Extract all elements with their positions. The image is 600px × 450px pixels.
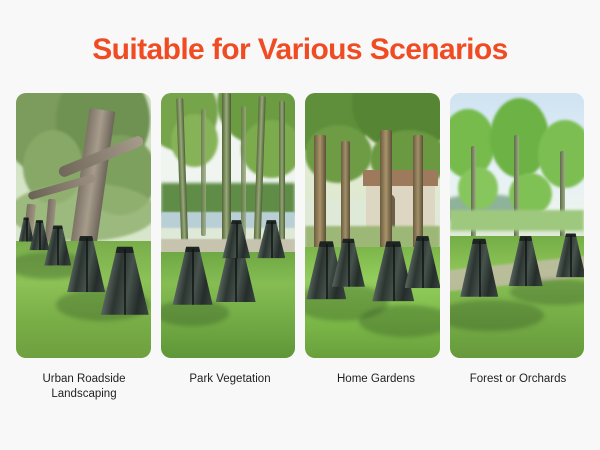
foliage xyxy=(241,120,295,178)
tree-trunk xyxy=(341,141,350,252)
caption-line: Park Vegetation xyxy=(162,372,298,387)
tree-trunk xyxy=(241,106,246,239)
scenario-card-forest-or-orchards[interactable] xyxy=(450,93,585,358)
tree-trunk xyxy=(201,109,206,236)
foliage xyxy=(458,167,498,209)
caption-line: Landscaping xyxy=(16,387,152,402)
scenario-card-gallery xyxy=(16,93,584,358)
page-title: Suitable for Various Scenarios xyxy=(0,33,600,67)
scenario-image-urban-roadside-landscaping xyxy=(16,93,151,358)
caption-forest-or-orchards: Forest or Orchards xyxy=(448,372,588,387)
scenario-image-forest-or-orchards xyxy=(450,93,585,358)
caption-home-gardens: Home Gardens xyxy=(308,372,444,387)
tree-trunk xyxy=(279,101,285,249)
caption-urban-roadside-landscaping: Urban Roadside Landscaping xyxy=(16,372,152,402)
caption-line: Home Gardens xyxy=(308,372,444,387)
scenario-card-urban-roadside-landscaping[interactable] xyxy=(16,93,151,358)
scenario-card-home-gardens[interactable] xyxy=(305,93,440,358)
house-roof xyxy=(363,170,438,186)
shadow xyxy=(359,305,440,337)
scenario-image-park-vegetation xyxy=(161,93,296,358)
caption-park-vegetation: Park Vegetation xyxy=(162,372,298,387)
caption-line: Forest or Orchards xyxy=(448,372,588,387)
tree-trunk xyxy=(380,130,392,252)
promo-banner: Suitable for Various Scenarios xyxy=(0,0,600,450)
scenario-card-park-vegetation[interactable] xyxy=(161,93,296,358)
caption-line: Urban Roadside xyxy=(16,372,152,387)
scenario-image-home-gardens xyxy=(305,93,440,358)
distant-sapling-row xyxy=(450,210,585,231)
tree-trunk xyxy=(413,135,423,252)
tree-trunk xyxy=(314,135,326,252)
